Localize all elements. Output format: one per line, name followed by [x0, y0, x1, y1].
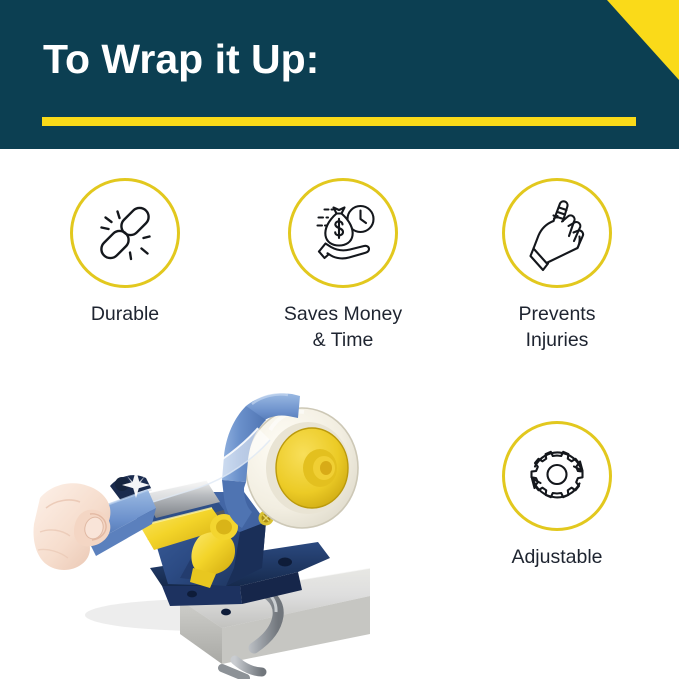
- feature-prevents-injuries-label-line2: Injuries: [467, 327, 647, 353]
- feature-prevents-injuries-label-line1: Prevents: [467, 301, 647, 327]
- hand-money-bag-clock-icon: [303, 193, 383, 273]
- feature-prevents-injuries-label: Prevents Injuries: [467, 301, 647, 354]
- feature-saves-money-label: Saves Money & Time: [253, 301, 433, 354]
- hand: [34, 483, 111, 570]
- feature-adjustable: Adjustable: [467, 421, 647, 570]
- page-title: To Wrap it Up:: [43, 38, 319, 81]
- bandaged-hand-icon: [520, 194, 594, 272]
- tape-dispenser-illustration: [30, 372, 370, 679]
- feature-prevents-injuries-circle: [502, 178, 612, 288]
- product-photo: [30, 372, 370, 679]
- feature-saves-money: Saves Money & Time: [253, 178, 433, 354]
- corner-triangle-decoration: [607, 0, 679, 80]
- tape-roll: [246, 408, 358, 528]
- feature-adjustable-label: Adjustable: [467, 544, 647, 570]
- feature-durable-label: Durable: [35, 301, 215, 327]
- title-underline-rule: [42, 117, 636, 126]
- feature-adjustable-circle: [502, 421, 612, 531]
- feature-prevents-injuries: Prevents Injuries: [467, 178, 647, 354]
- feature-saves-money-label-line2: & Time: [253, 327, 433, 353]
- promo-card: To Wrap it Up:: [0, 0, 679, 679]
- header-band: To Wrap it Up:: [0, 0, 679, 149]
- feature-durable-circle: [70, 178, 180, 288]
- feature-saves-money-label-line1: Saves Money: [253, 301, 433, 327]
- feature-saves-money-circle: [288, 178, 398, 288]
- gear-rotating-arrows-icon: [517, 436, 597, 516]
- chain-link-icon: [86, 194, 164, 272]
- feature-durable: Durable: [35, 178, 215, 327]
